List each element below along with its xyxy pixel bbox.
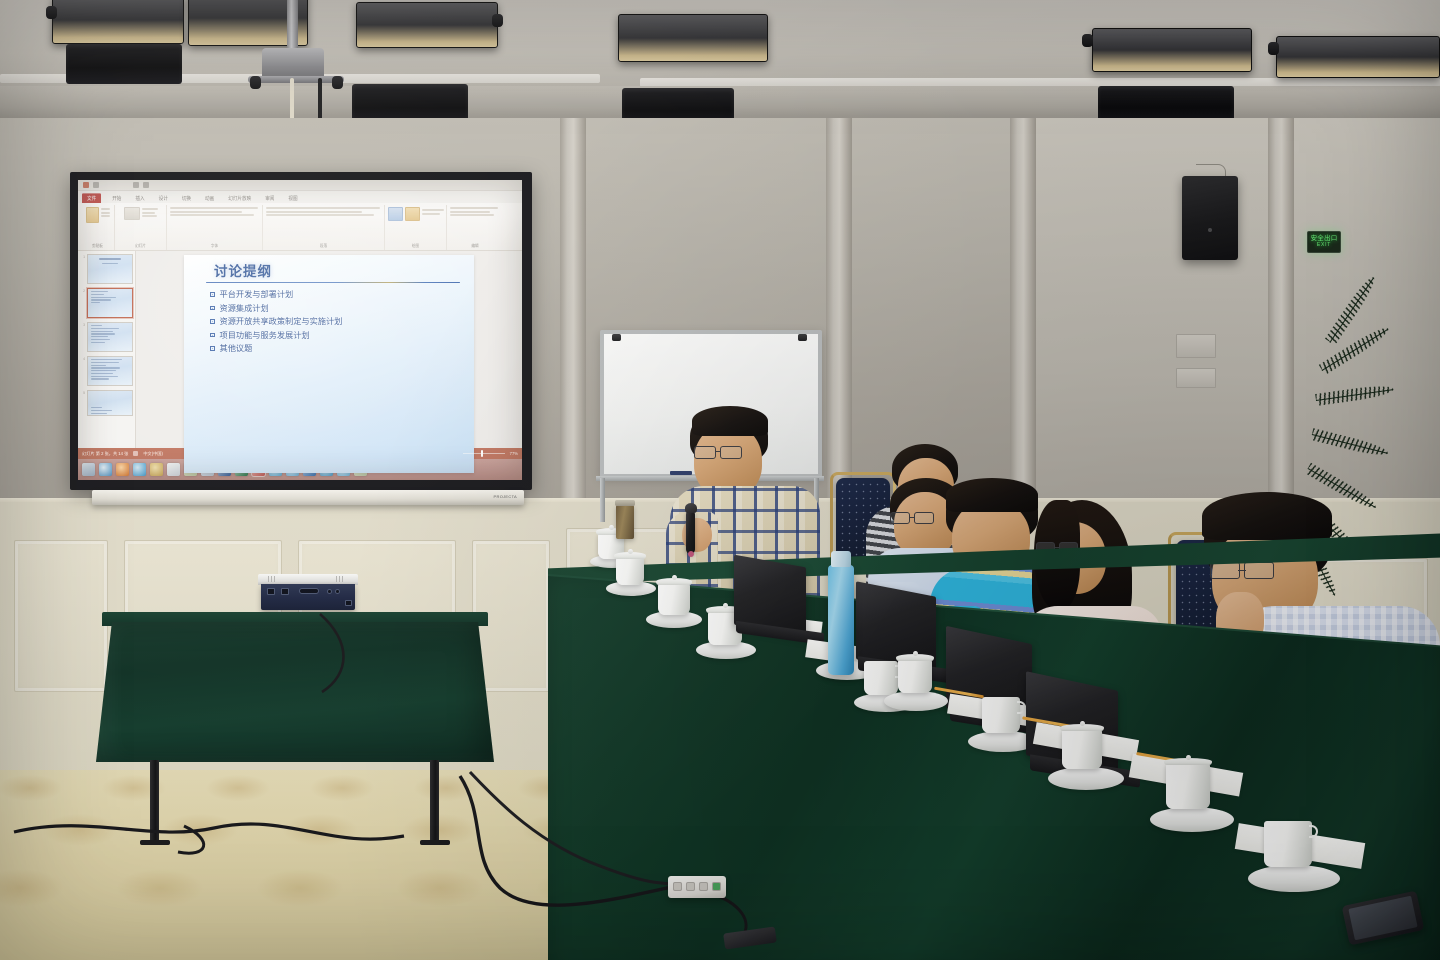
exit-sign: 安全出口 EXIT [1307,231,1341,253]
teacup-lid-knob [609,525,614,530]
presenter-glasses-left [694,446,716,459]
wall-plaque-1 [1176,334,1216,358]
bullet-square-icon [210,333,215,338]
power-socket-2[interactable] [686,882,695,891]
ribbon-group-slides[interactable]: 幻灯片 [115,205,167,250]
thermos-cap [831,551,851,567]
zoom-level[interactable]: 77% [510,451,518,456]
audio-port-1 [327,589,332,594]
bullet-square-icon [210,346,215,351]
zoom-slider-handle[interactable] [481,450,483,457]
thumbnail-number: 5 [80,390,85,395]
slide-thumbnail-2[interactable] [87,288,133,318]
slide-thumbnail-3[interactable] [87,322,133,352]
power-socket-1[interactable] [673,882,682,891]
zoom-slider[interactable] [463,453,505,455]
redo-icon[interactable] [143,182,149,188]
conference-room-photo: 安全出口 EXIT [0,0,1440,960]
ribbon-group-paragraph[interactable]: 段落 [263,205,385,250]
presenter-glasses-right [720,446,742,459]
group-label-slides: 幻灯片 [135,244,146,251]
stage-light-5 [1092,28,1252,72]
windows-start-icon[interactable] [82,463,95,476]
audio-port-2 [335,589,340,594]
language-indicator[interactable]: 中文(中国) [143,451,163,457]
stage-light-6-knob [1268,42,1279,55]
mount-pole [287,0,298,52]
stage-light-4 [618,14,768,62]
vga-port [299,588,319,594]
ribbon-group-drawing[interactable]: 绘图 [385,205,447,250]
bullet-text: 资源集成计划 [220,304,269,313]
slide-title[interactable]: 讨论提纲 [214,265,462,279]
undo-icon[interactable] [133,182,139,188]
slide-bullet-item[interactable]: 平台开发与部署计划 [210,290,462,299]
bullet-square-icon [210,306,215,311]
projection-screen-assembly: 文件 开始 插入 设计 切换 动画 幻灯片放映 审阅 视图 [70,172,532,524]
edge-browser-icon[interactable] [99,463,112,476]
thumbnail-number: 3 [80,322,85,327]
wall-pilaster-3 [1010,118,1036,538]
slide-thumbnail-pane[interactable]: 1 2 [78,251,136,448]
slide-counter: 幻灯片 第 2 张，共 14 张 [82,451,128,457]
slide-title-underline [206,282,460,284]
powerpoint-logo-icon [83,182,89,188]
ribbon-tab-strip[interactable]: 文件 开始 插入 设计 切换 动画 幻灯片放映 审阅 视图 [78,191,522,203]
mount-bolt-left [250,76,261,89]
ribbon-group-clipboard[interactable]: 剪贴板 [81,205,115,250]
power-strip[interactable] [668,876,726,898]
save-icon[interactable] [93,182,99,188]
power-cable-5 [706,892,746,934]
slide-thumbnail-5[interactable] [87,390,133,416]
ribbon-group-font[interactable]: 字体 [167,205,263,250]
firefox-icon[interactable] [116,463,129,476]
bullet-square-icon [210,292,215,297]
power-cable-white [290,78,294,122]
jar-lid [615,500,635,506]
usb-port-1 [267,588,275,595]
screen-roller-housing: PROJECTA [92,490,524,505]
bullet-text: 项目功能与服务发展计划 [220,331,310,340]
current-slide[interactable]: 讨论提纲 平台开发与部署计划 资源集成计划 [184,255,474,473]
screen-border: 文件 开始 插入 设计 切换 动画 幻灯片放映 审阅 视图 [70,172,532,490]
editor-body: 1 2 [78,251,522,448]
power-socket-4[interactable] [712,882,721,891]
ribbon-group-editing[interactable]: 编辑 [447,205,503,250]
slide-bullet-item[interactable]: 资源开放共享政策制定与实施计划 [210,317,462,326]
group-label-font: 字体 [211,244,218,251]
stage-light-5-lens [1098,86,1234,122]
signal-cable-black [318,78,322,120]
mount-arm [248,76,344,83]
whiteboard-clip-left [612,334,621,341]
file-explorer-icon[interactable] [167,463,180,476]
bullet-text: 平台开发与部署计划 [220,290,294,299]
thumbnail-row[interactable]: 2 [80,288,133,318]
slide-bullet-list[interactable]: 平台开发与部署计划 资源集成计划 资源开放共享政策制定与实施计划 [198,290,462,353]
group-label-paragraph: 段落 [320,244,327,251]
floor-cables [0,600,1440,960]
group-label-drawing: 绘图 [412,244,419,251]
thumbnail-number: 4 [80,356,85,361]
thumbnail-row[interactable]: 1 [80,254,133,284]
presenter-hair-top [692,406,768,436]
media-player-icon[interactable] [150,463,163,476]
language-icon [133,451,138,456]
slide-thumbnail-4[interactable] [87,356,133,386]
group-label-clipboard: 剪贴板 [92,244,103,251]
bullet-text: 资源开放共享政策制定与实施计划 [220,317,343,326]
lidded-teacup[interactable] [616,557,644,585]
slide-bullet-item[interactable]: 资源集成计划 [210,304,462,313]
bullet-square-icon [210,319,215,324]
power-cable-1 [14,824,404,839]
whiteboard-clip-right [798,334,807,341]
thumbnail-row[interactable]: 4 [80,356,133,386]
powerpoint-window[interactable]: 文件 开始 插入 设计 切换 动画 幻灯片放映 审阅 视图 [78,180,522,480]
power-socket-3[interactable] [699,882,708,891]
slide-thumbnail-1[interactable] [87,254,133,284]
usb-port-2 [281,588,289,595]
exit-sign-english-label: EXIT [1317,242,1331,249]
skype-icon[interactable] [133,463,146,476]
thumbnail-row[interactable]: 3 [80,322,133,352]
ceiling-projector-mount [0,0,600,130]
projected-image[interactable]: 文件 开始 插入 设计 切换 动画 幻灯片放映 审阅 视图 [78,180,522,480]
wall-pilaster-1 [560,118,586,538]
thumbnail-number: 2 [80,288,85,293]
slide-bullet-item[interactable]: 其他议题 [210,344,462,353]
quick-access-toolbar[interactable] [78,180,522,191]
power-cable-6 [320,614,344,692]
slide-bullet-item[interactable]: 项目功能与服务发展计划 [210,331,462,340]
new-slide-icon[interactable] [124,207,140,220]
mount-bolt-right [332,76,343,89]
paste-icon[interactable] [86,207,99,223]
power-cable-4 [470,772,694,884]
stage-light-5-knob [1082,34,1093,47]
wall-pilaster-4 [1268,118,1294,548]
thumbnail-number: 1 [80,254,85,259]
teacup-lid-knob [628,549,633,554]
teacup-lid-knob [672,575,677,580]
bullet-text: 其他议题 [220,344,253,353]
thumbnail-row[interactable]: 5 [80,390,133,416]
group-label-editing: 编辑 [471,244,478,251]
stage-light-6 [1276,36,1440,78]
wall-mounted-speaker [1182,176,1238,260]
shape-styles-icon[interactable] [405,207,420,221]
slide-editing-area[interactable]: 讨论提纲 平台开发与部署计划 资源集成计划 [136,251,522,448]
ribbon[interactable]: 剪贴板 幻灯片 [78,203,522,251]
wall-plaque-2 [1176,368,1216,388]
screen-brand-label: PROJECTA [494,494,517,499]
glass-jar[interactable] [616,505,634,539]
presenter-glasses-bridge [715,451,721,452]
shapes-icon[interactable] [388,207,403,221]
